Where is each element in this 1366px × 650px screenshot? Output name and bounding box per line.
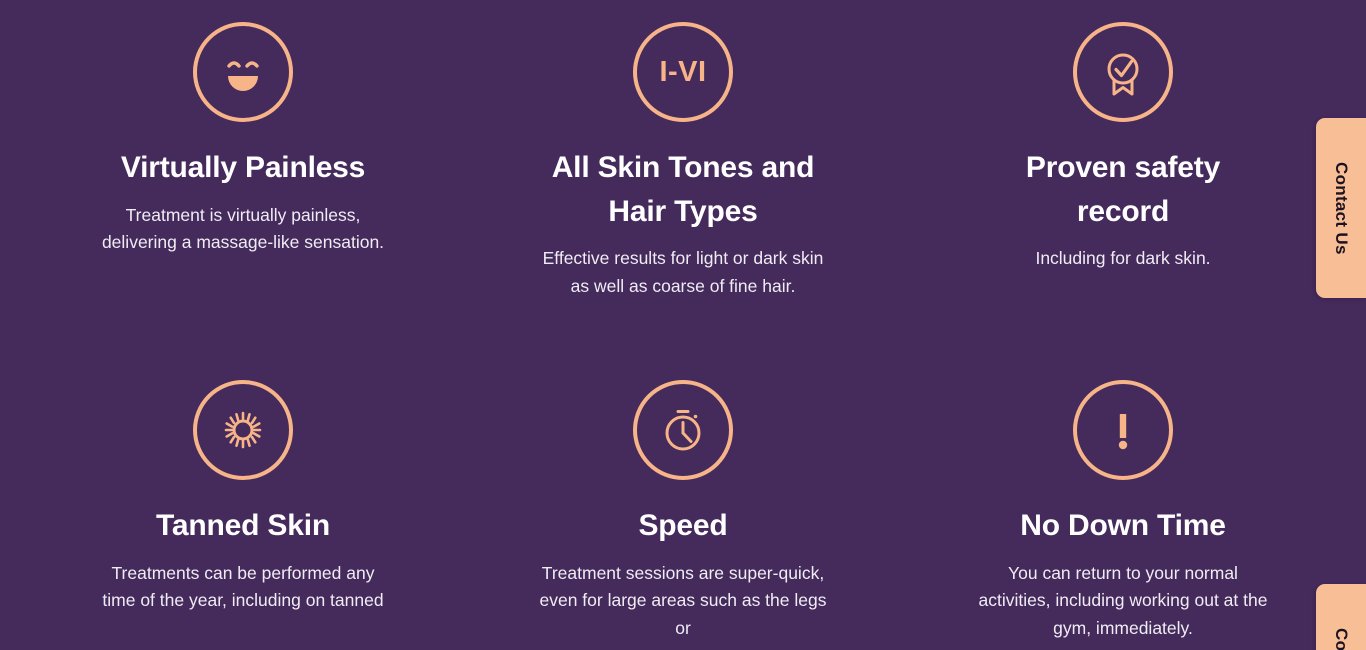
- contact-us-tab-bottom-label: Contact Us: [1331, 628, 1351, 650]
- smiley-face-icon: [193, 22, 293, 122]
- feature-title: Tanned Skin: [156, 504, 330, 548]
- feature-title: No Down Time: [1020, 504, 1225, 548]
- feature-description: Treatments can be performed any time of …: [93, 560, 393, 615]
- contact-us-tab-bottom[interactable]: Contact Us: [1316, 584, 1366, 650]
- feature-description: Effective results for light or dark skin…: [533, 245, 833, 300]
- roman-numeral-range-icon: I-VI: [633, 22, 733, 122]
- feature-description: Treatment is virtually painless, deliver…: [93, 202, 393, 257]
- contact-us-tab-top[interactable]: Contact Us: [1316, 118, 1366, 298]
- feature-card-proven-safety-record: Proven safety record Including for dark …: [903, 22, 1343, 380]
- feature-description: Including for dark skin.: [1035, 245, 1210, 273]
- feature-card-all-skin-tones: I-VI All Skin Tones and Hair Types Effec…: [463, 22, 903, 380]
- features-grid: Virtually Painless Treatment is virtuall…: [23, 0, 1343, 650]
- feature-title: Virtually Painless: [121, 146, 365, 190]
- sun-rays-icon: [193, 380, 293, 480]
- feature-title: Proven safety record: [978, 146, 1268, 233]
- feature-card-tanned-skin: Tanned Skin Treatments can be performed …: [23, 380, 463, 650]
- roman-numeral-label: I-VI: [659, 58, 706, 87]
- award-medal-check-icon: [1073, 22, 1173, 122]
- feature-card-virtually-painless: Virtually Painless Treatment is virtuall…: [23, 22, 463, 380]
- feature-title: All Skin Tones and Hair Types: [538, 146, 828, 233]
- feature-description: You can return to your normal activities…: [973, 560, 1273, 643]
- features-section: Virtually Painless Treatment is virtuall…: [0, 0, 1366, 650]
- feature-title: Speed: [638, 504, 727, 548]
- exclamation-mark-icon: [1073, 380, 1173, 480]
- feature-card-speed: Speed Treatment sessions are super-quick…: [463, 380, 903, 650]
- stopwatch-icon: [633, 380, 733, 480]
- feature-description: Treatment sessions are super-quick, even…: [533, 560, 833, 643]
- contact-us-tab-top-label: Contact Us: [1331, 162, 1351, 255]
- feature-card-no-down-time: No Down Time You can return to your norm…: [903, 380, 1343, 650]
